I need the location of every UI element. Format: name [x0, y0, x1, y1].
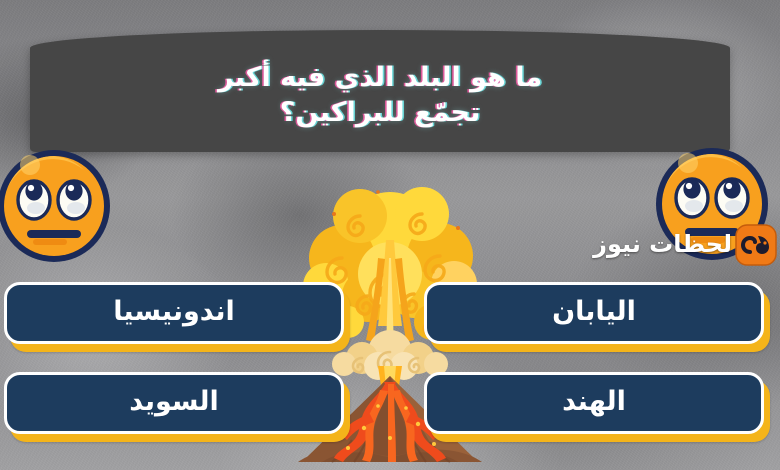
answer-face[interactable]: اليابان [424, 282, 764, 344]
rolling-eyes-face-icon [0, 146, 114, 266]
answer-option-3[interactable]: السويد [4, 372, 344, 434]
answer-label: اندونيسيا [113, 298, 235, 328]
answer-option-1[interactable]: اندونيسيا [4, 282, 344, 344]
orange-rounded-square-logo-icon [734, 222, 780, 268]
watermark-label: لحظات نيوز [593, 232, 732, 258]
answer-option-4[interactable]: الهند [424, 372, 764, 434]
question-banner-inner: ما هو البلد الذي فيه أكبر تجمّع للبراكين… [30, 30, 730, 152]
answer-face[interactable]: الهند [424, 372, 764, 434]
question-line-1: ما هو البلد الذي فيه أكبر [218, 60, 542, 95]
quiz-slide: ما هو البلد الذي فيه أكبر تجمّع للبراكين… [0, 0, 780, 470]
answer-face[interactable]: السويد [4, 372, 344, 434]
question-banner: ما هو البلد الذي فيه أكبر تجمّع للبراكين… [30, 30, 730, 152]
answer-label: السويد [129, 388, 219, 418]
answer-label: الهند [562, 388, 626, 418]
answer-label: اليابان [552, 298, 636, 328]
answer-option-2[interactable]: اليابان [424, 282, 764, 344]
question-line-2: تجمّع للبراكين؟ [280, 95, 480, 130]
watermark: لحظات نيوز [604, 218, 780, 272]
answer-face[interactable]: اندونيسيا [4, 282, 344, 344]
